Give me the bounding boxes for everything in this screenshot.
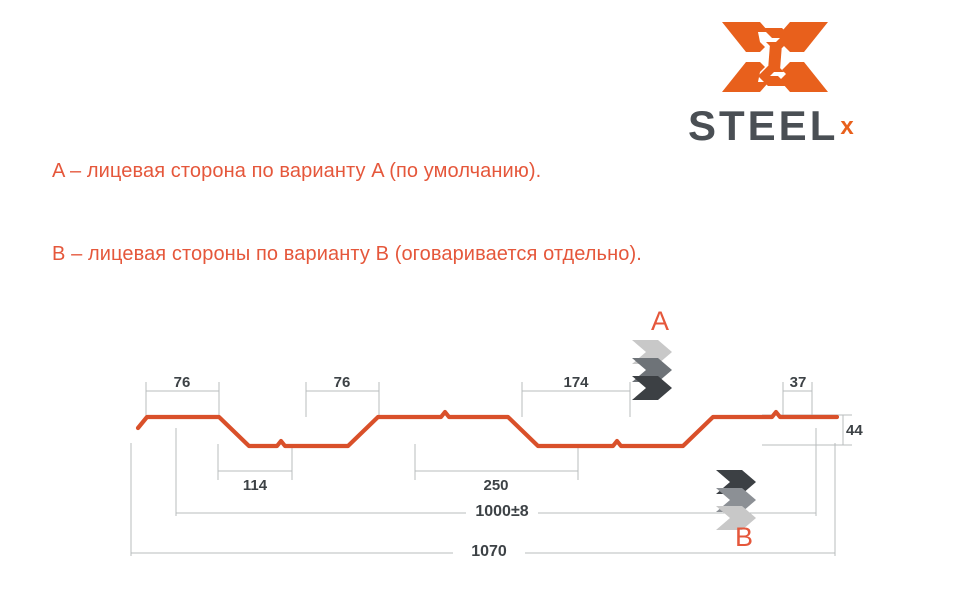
marker-a-chevrons-icon: [632, 340, 672, 400]
dimension-label-76-first: 76: [152, 374, 212, 391]
dimension-label-250: 250: [466, 477, 526, 494]
marker-a-label: A: [640, 306, 680, 337]
dimension-label-114: 114: [225, 477, 285, 494]
technical-drawing-page: STEELx A – лицевая сторона по варианту A…: [0, 0, 970, 597]
dimension-label-37: 37: [768, 374, 828, 391]
dimension-label-1070: 1070: [453, 543, 525, 561]
dimension-label-1000: 1000±8: [466, 503, 538, 521]
marker-b-label: B: [724, 522, 764, 553]
dimension-label-76-second: 76: [312, 374, 372, 391]
dimension-label-174: 174: [546, 374, 606, 391]
dimension-label-44: 44: [846, 422, 886, 439]
marker-b-chevrons-icon: [716, 470, 756, 530]
steel-profile-outline: [138, 412, 837, 446]
